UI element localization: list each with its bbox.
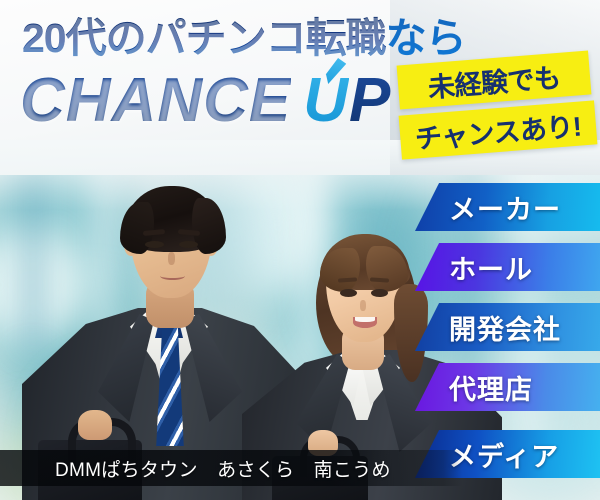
credit-text: DMMぱちタウン あさくら 南こうめ: [55, 455, 391, 482]
credit-bar: DMMぱちタウン あさくら 南こうめ: [0, 450, 462, 486]
recruitment-banner[interactable]: 20代のパチンコ転職なら CHANCEUP 未経験でも チャンスあり! メーカー…: [0, 0, 600, 500]
category-label: メディア: [449, 435, 559, 474]
category-button-hall[interactable]: ホール: [415, 243, 600, 291]
category-button-agency[interactable]: 代理店: [415, 363, 600, 411]
category-label: 代理店: [449, 368, 533, 407]
category-label: メーカー: [449, 188, 561, 227]
category-button-developer[interactable]: 開発会社: [415, 303, 600, 351]
category-label: ホール: [449, 248, 533, 287]
category-button-maker[interactable]: メーカー: [415, 183, 600, 231]
category-list: メーカー ホール 開発会社 代理店 メディア: [0, 0, 600, 500]
category-label: 開発会社: [449, 308, 561, 347]
